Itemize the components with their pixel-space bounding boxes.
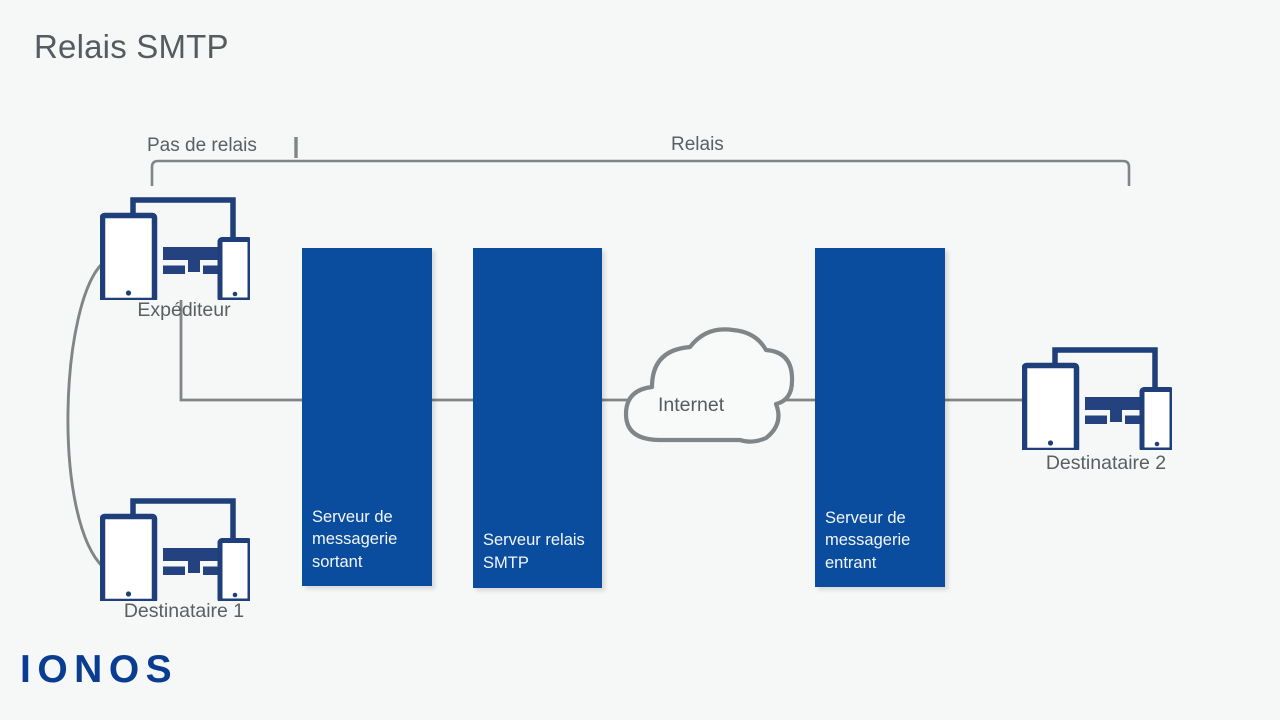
internet-label: Internet: [658, 394, 724, 417]
internet-cloud: [626, 329, 792, 441]
server-label-outgoing: Serveur de messagerie sortant: [312, 506, 424, 574]
device-group-recipient-2: [1025, 350, 1173, 451]
server-label-incoming: Serveur de messagerie entrant: [825, 507, 937, 575]
bracket-label-no-relay: Pas de relais: [147, 135, 257, 157]
bracket-label-relay: Relais: [671, 134, 724, 156]
scope-bracket: [152, 137, 1129, 186]
device-group-sender: [103, 200, 251, 301]
server-box-outgoing-mail-server[interactable]: Serveur de messagerie sortant: [302, 248, 432, 586]
server-label-relay: Serveur relais SMTP: [483, 529, 594, 574]
diagram-canvas: Relais SMTP: [0, 0, 1280, 720]
device-label-sender: Expéditeur: [84, 299, 284, 322]
device-label-recipient-2: Destinataire 2: [1006, 452, 1206, 475]
server-box-incoming-mail-server[interactable]: Serveur de messagerie entrant: [815, 248, 945, 587]
device-label-recipient-1: Destinataire 1: [84, 600, 284, 623]
server-box-smtp-relay-server[interactable]: Serveur relais SMTP: [473, 248, 602, 588]
ionos-logo: IONOS: [20, 648, 178, 692]
device-group-recipient-1: [103, 501, 251, 602]
